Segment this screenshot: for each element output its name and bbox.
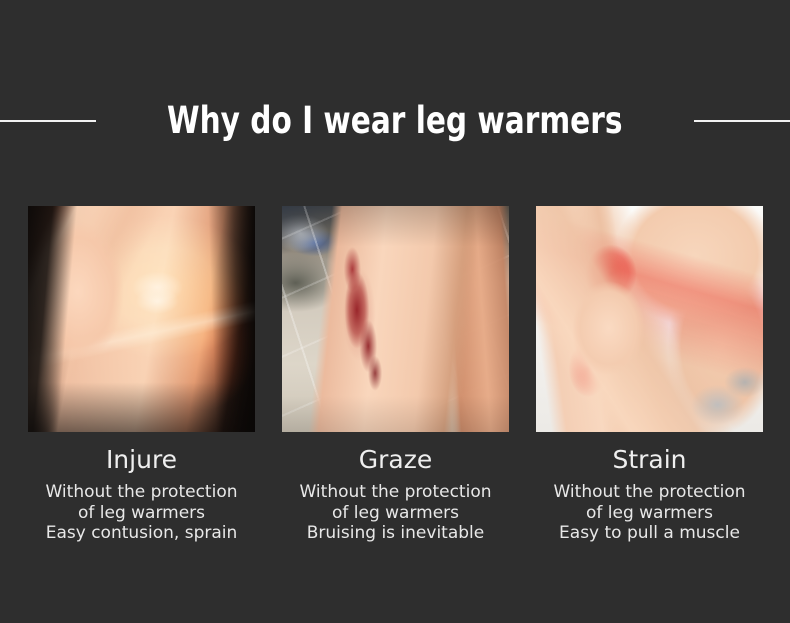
calf-strain-photo: [536, 206, 763, 432]
card-heading-injure: Injure: [106, 445, 177, 475]
feature-card-injure: Injure Without the protection of leg war…: [28, 206, 255, 544]
promo-banner: Why do I wear leg warmers Injure Without…: [0, 0, 790, 623]
card-body-line: Easy to pull a muscle: [525, 523, 775, 544]
card-body-injure: Without the protection of leg warmers Ea…: [17, 482, 267, 544]
leg-graze-photo: [282, 206, 509, 432]
card-body-line: Without the protection: [271, 482, 521, 503]
title-divider-right: [694, 120, 790, 122]
card-body-strain: Without the protection of leg warmers Ea…: [525, 482, 775, 544]
feature-card-list: Injure Without the protection of leg war…: [28, 206, 763, 544]
feature-card-strain: Strain Without the protection of leg war…: [536, 206, 763, 544]
card-body-line: of leg warmers: [525, 503, 775, 524]
card-heading-graze: Graze: [359, 445, 432, 475]
graze-vignette-layer: [282, 206, 509, 432]
card-body-line: Easy contusion, sprain: [17, 523, 267, 544]
card-heading-strain: Strain: [612, 445, 686, 475]
card-body-line: Without the protection: [17, 482, 267, 503]
knee-injury-photo: [28, 206, 255, 432]
card-body-line: Without the protection: [525, 482, 775, 503]
page-title: Why do I wear leg warmers: [167, 100, 623, 142]
strain-sock-layer: [536, 206, 763, 432]
title-divider-left: [0, 120, 96, 122]
banner-title-row: Why do I wear leg warmers: [0, 96, 790, 146]
card-body-graze: Without the protection of leg warmers Br…: [271, 482, 521, 544]
knee-vignette-layer: [28, 206, 255, 432]
feature-card-graze: Graze Without the protection of leg warm…: [282, 206, 509, 544]
card-body-line: of leg warmers: [271, 503, 521, 524]
card-body-line: Bruising is inevitable: [271, 523, 521, 544]
card-body-line: of leg warmers: [17, 503, 267, 524]
